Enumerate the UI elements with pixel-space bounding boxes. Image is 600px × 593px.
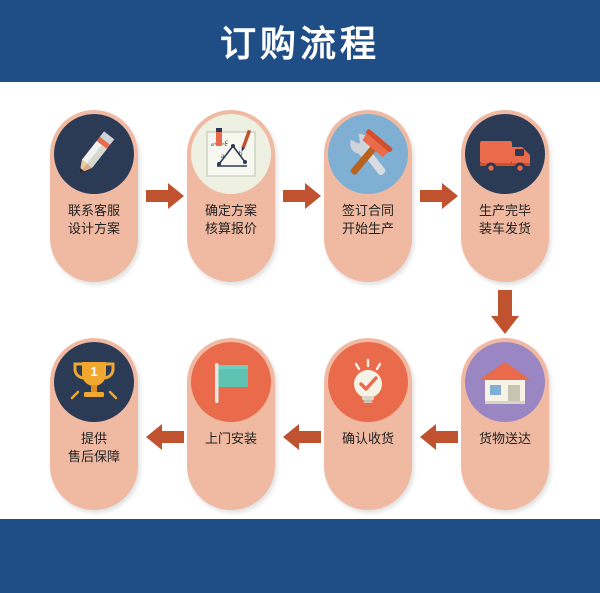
flow-node-8[interactable]: 1 提供 售后保障 — [50, 338, 138, 510]
flag-icon — [191, 342, 271, 422]
flow-node-7[interactable]: 上门安装 — [187, 338, 275, 510]
arrow-1-to-2 — [146, 183, 184, 209]
arrow-5-to-6 — [420, 424, 458, 450]
right-margin — [578, 82, 600, 519]
arrow-2-to-3 — [283, 183, 321, 209]
house-icon — [465, 342, 545, 422]
arrow-6-to-7 — [283, 424, 321, 450]
blueprint-icon: c b a a+b=c — [191, 114, 271, 194]
flow-node-1-label: 联系客服 设计方案 — [50, 202, 138, 238]
arrow-4-to-5 — [491, 290, 519, 334]
pencil-icon — [54, 114, 134, 194]
left-margin — [0, 82, 22, 519]
svg-text:1: 1 — [90, 364, 97, 379]
flow-node-1[interactable]: 联系客服 设计方案 — [50, 110, 138, 282]
flow-node-4[interactable]: 生产完毕 装车发货 — [461, 110, 549, 282]
flow-node-2[interactable]: c b a a+b=c 确定方案 核算报价 — [187, 110, 275, 282]
truck-icon — [465, 114, 545, 194]
flow-node-6[interactable]: 确认收货 — [324, 338, 412, 510]
flow-node-3-label: 签订合同 开始生产 — [324, 202, 412, 238]
flow-node-7-label: 上门安装 — [187, 430, 275, 448]
tools-icon — [328, 114, 408, 194]
arrow-3-to-4 — [420, 183, 458, 209]
trophy-icon: 1 — [54, 342, 134, 422]
flow-node-5-label: 货物送达 — [461, 430, 549, 448]
page-title: 订购流程 — [0, 0, 600, 82]
footer-bar — [0, 519, 600, 593]
flow-node-3[interactable]: 签订合同 开始生产 — [324, 110, 412, 282]
svg-text:b: b — [239, 150, 243, 158]
flow-node-2-label: 确定方案 核算报价 — [187, 202, 275, 238]
flow-node-8-label: 提供 售后保障 — [50, 430, 138, 466]
flow-node-6-label: 确认收货 — [324, 430, 412, 448]
flow-node-5[interactable]: 货物送达 — [461, 338, 549, 510]
flowchart-page: 订购流程 联系客服 设计方案 — [0, 0, 600, 593]
flow-node-4-label: 生产完毕 装车发货 — [461, 202, 549, 238]
checkmark-bulb-icon — [328, 342, 408, 422]
arrow-7-to-8 — [146, 424, 184, 450]
